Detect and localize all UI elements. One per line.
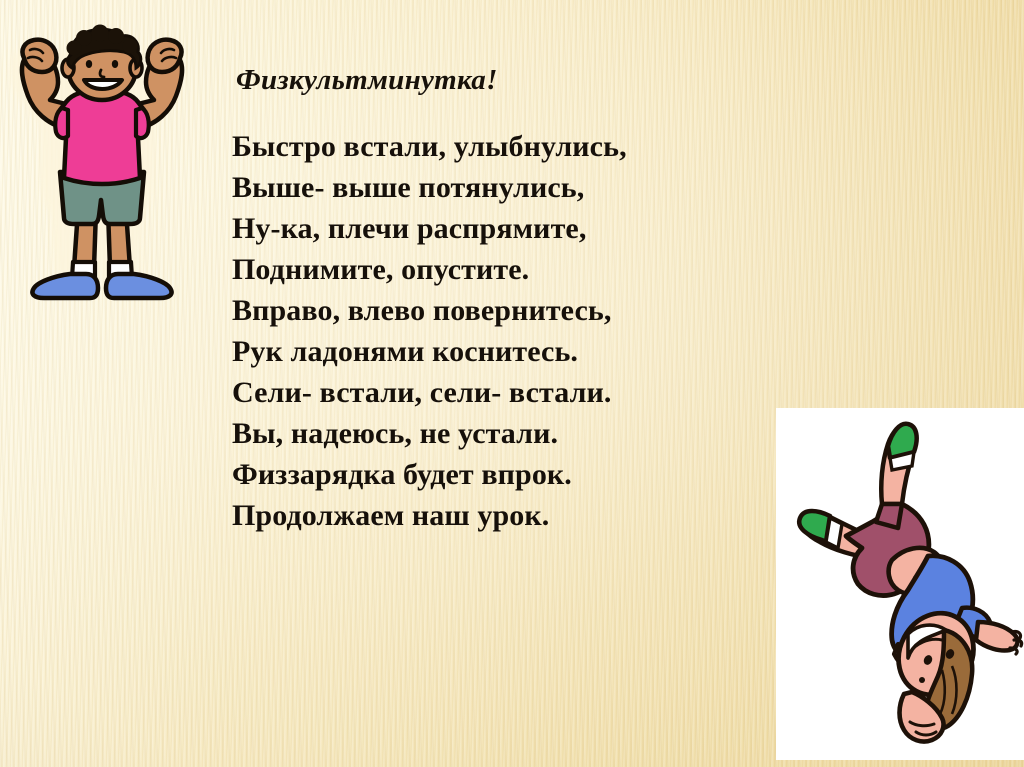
poem-line: Рук ладонями коснитесь. <box>232 331 792 372</box>
poem-text-block: Физкультминутка! Быстро встали, улыбнули… <box>232 62 792 536</box>
boy-flexing-clipart <box>4 24 200 304</box>
poem-line: Физзарядка будет впрок. <box>232 454 792 495</box>
girl-handstand-clipart <box>776 408 1024 760</box>
poem-line: Сели- встали, сели- встали. <box>232 372 792 413</box>
poem-line: Быстро встали, улыбнулись, <box>232 126 792 167</box>
poem-line: Выше- выше потянулись, <box>232 167 792 208</box>
poem-line: Поднимите, опустите. <box>232 249 792 290</box>
poem-line: Продолжаем наш урок. <box>232 495 792 536</box>
girl-handstand-panel <box>776 408 1024 760</box>
poem-line: Ну-ка, плечи распрямите, <box>232 208 792 249</box>
page-title: Физкультминутка! <box>236 62 792 98</box>
poem-line: Вправо, влево повернитесь, <box>232 290 792 331</box>
poem-line: Вы, надеюсь, не устали. <box>232 413 792 454</box>
slide-canvas: Физкультминутка! Быстро встали, улыбнули… <box>0 0 1024 767</box>
poem-lines-list: Быстро встали, улыбнулись,Выше- выше пот… <box>232 126 792 536</box>
